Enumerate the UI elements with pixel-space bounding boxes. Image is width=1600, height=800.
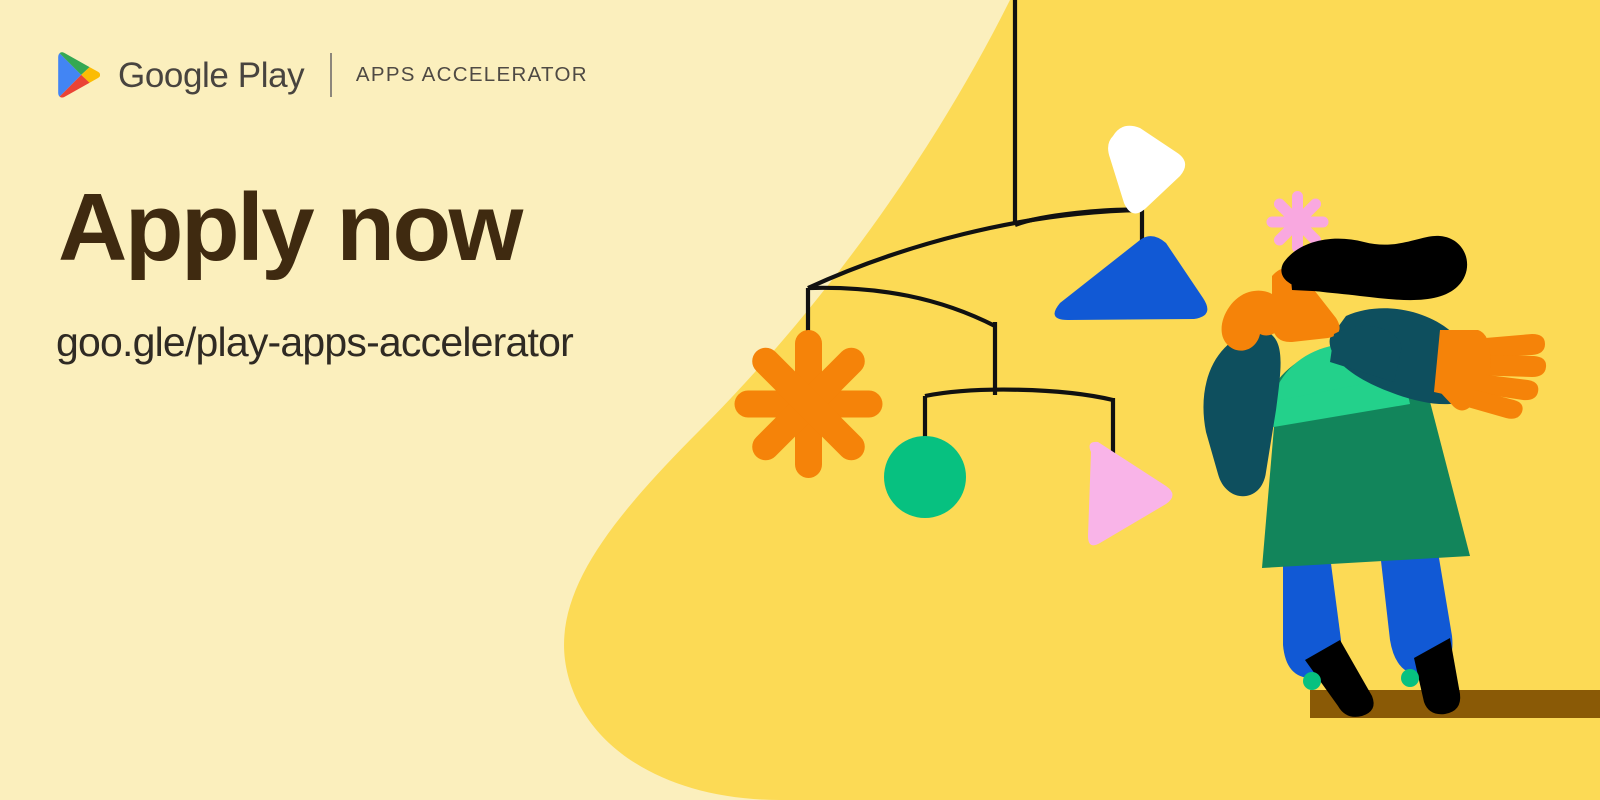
logo-divider — [330, 53, 332, 97]
illustration-mobile-sculpture-with-person — [0, 0, 1600, 800]
sock-dot-right — [1401, 669, 1419, 687]
program-name-label: APPS ACCELERATOR — [356, 65, 588, 86]
sock-dot-left — [1303, 672, 1321, 690]
brand-lockup[interactable]: Google Play APPS ACCELERATOR — [58, 52, 588, 98]
page-title: Apply now — [58, 178, 521, 279]
green-circle-shape — [884, 436, 966, 518]
orange-asterisk-shape — [735, 330, 883, 478]
google-play-triangle-icon — [58, 52, 100, 98]
promo-banner: Google Play APPS ACCELERATOR Apply now g… — [0, 0, 1600, 800]
google-play-wordmark: Google Play — [118, 58, 304, 93]
cta-url-link[interactable]: goo.gle/play-apps-accelerator — [56, 318, 573, 367]
